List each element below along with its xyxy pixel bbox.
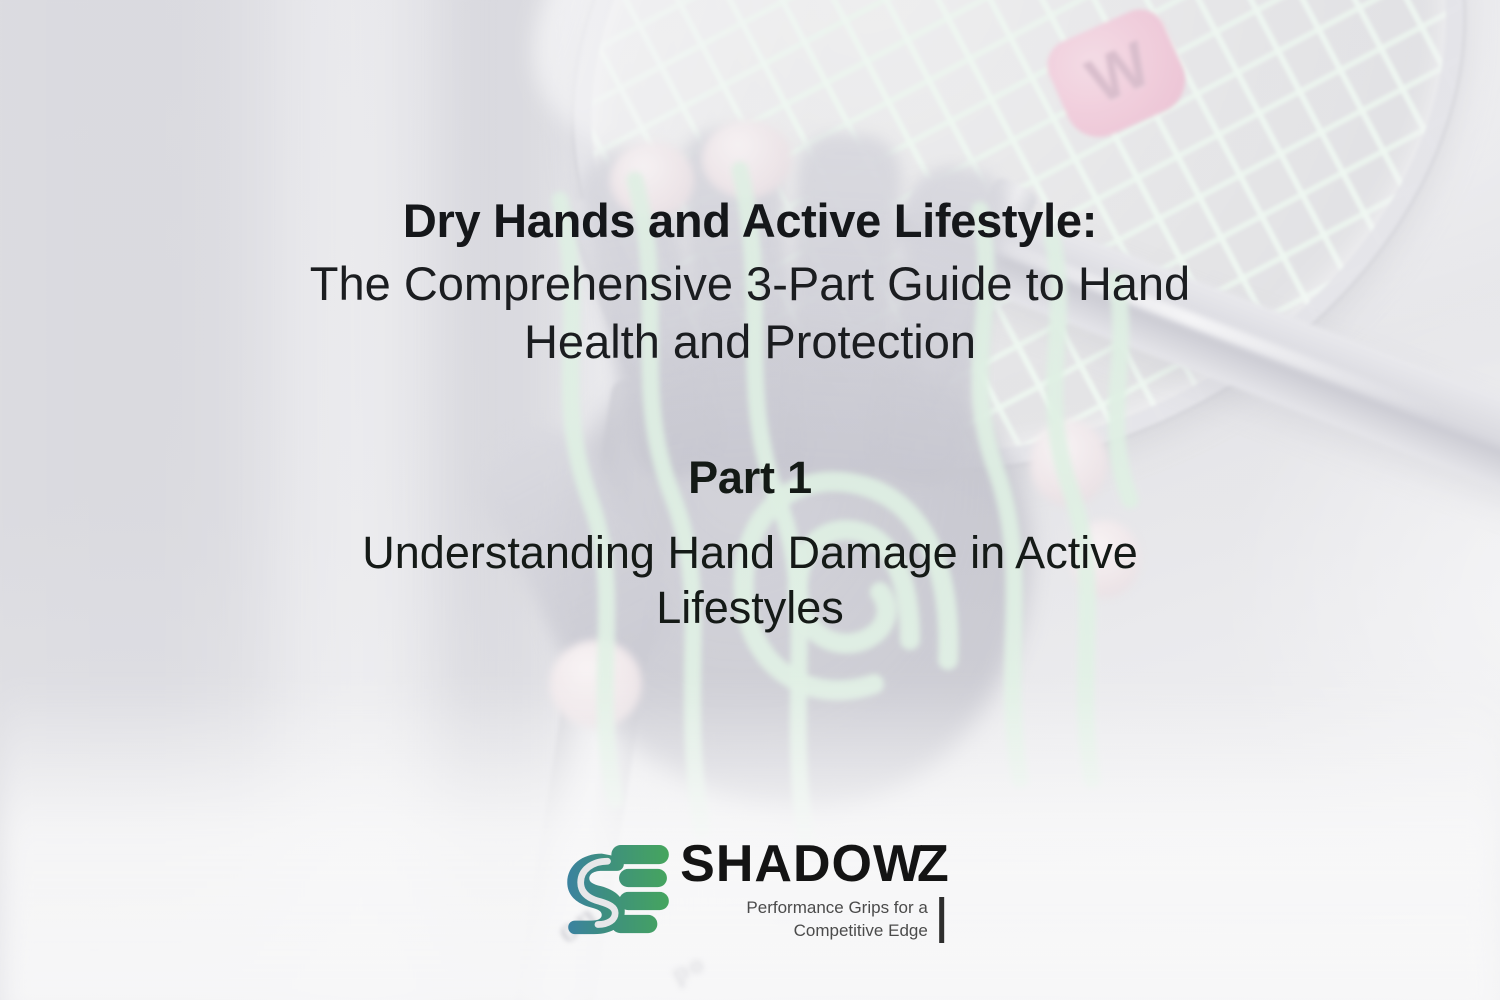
tagline-line-2: Competitive Edge (746, 920, 927, 943)
subheadline-line-2: Health and Protection (310, 313, 1190, 370)
part-title-line-2: Lifestyles (362, 581, 1137, 636)
subheadline-line-1: The Comprehensive 3-Part Guide to Hand (310, 255, 1190, 312)
tagline-wrap: Performance Grips for a Competitive Edge (680, 897, 944, 943)
tagline-line-1: Performance Grips for a (746, 897, 927, 920)
brand-tagline: Performance Grips for a Competitive Edge (746, 897, 927, 943)
part-label: Part 1 (688, 452, 812, 504)
logo-text-block: SHADOWZ Performance Grips for a Competit… (680, 838, 944, 943)
slide-subheadline: The Comprehensive 3-Part Guide to Hand H… (310, 255, 1190, 370)
part-title: Understanding Hand Damage in Active Life… (362, 526, 1137, 636)
brand-wordmark: SHADOWZ (680, 838, 944, 890)
slide-headline: Dry Hands and Active Lifestyle: (403, 196, 1097, 245)
shadowz-logo-lockup: SHADOWZ Performance Grips for a Competit… (556, 838, 944, 943)
hand-s-mark-icon (556, 844, 674, 936)
tagline-accent-bar (939, 897, 944, 943)
brand-tail: WZ (873, 835, 944, 893)
part-title-line-1: Understanding Hand Damage in Active (362, 526, 1137, 581)
brand-main: SHADO (680, 835, 873, 893)
